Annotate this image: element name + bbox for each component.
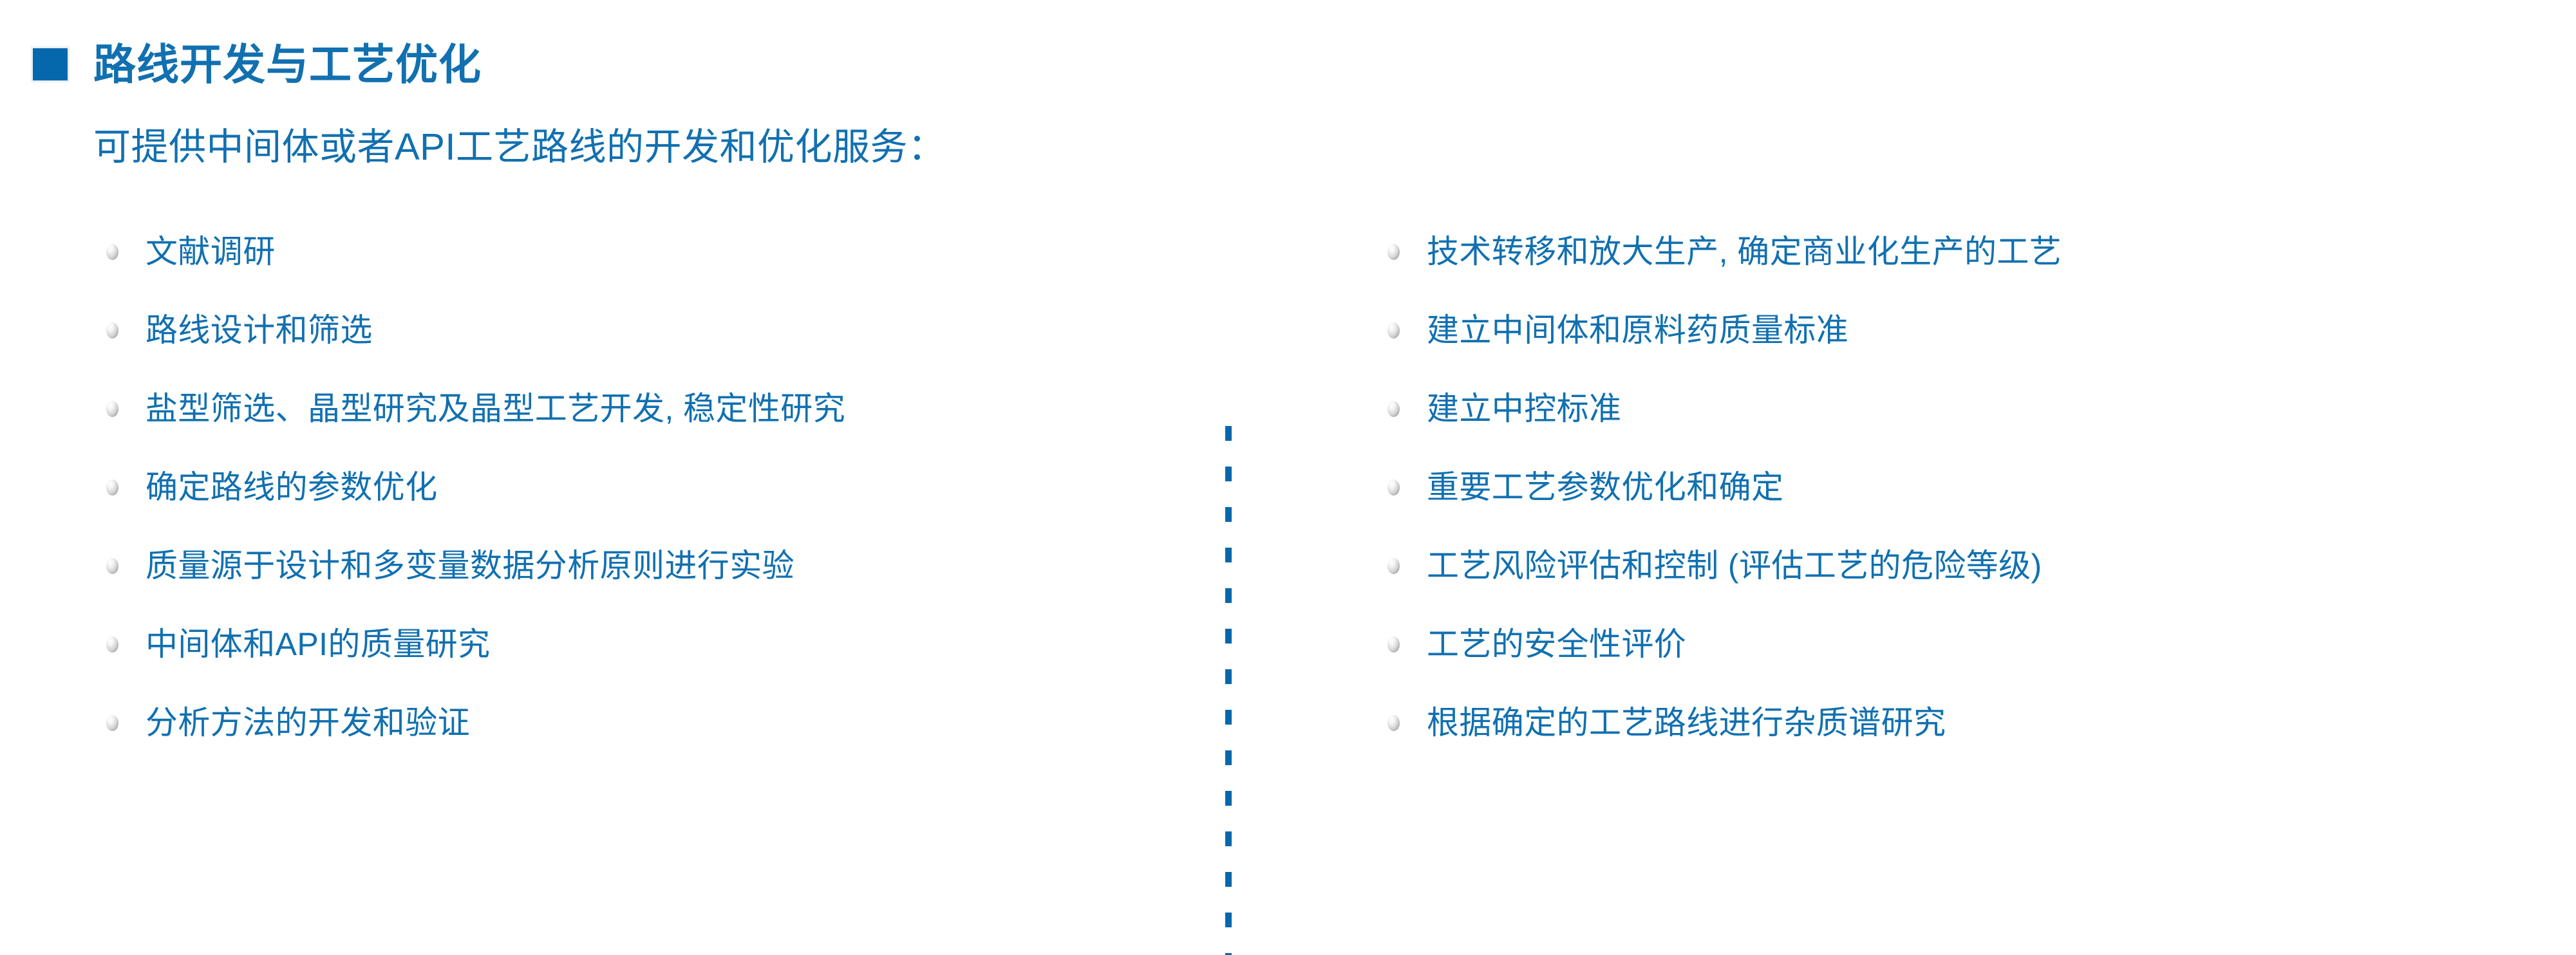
bullet-columns: 文献调研 路线设计和筛选 盐型筛选、晶型研究及晶型工艺开发, 稳定性研究 确定路… (0, 212, 2576, 746)
sphere-bullet-icon (106, 479, 118, 496)
sphere-bullet-icon (1387, 715, 1400, 731)
list-item-label: 确定路线的参数优化 (146, 470, 438, 505)
sphere-bullet-icon (1387, 636, 1400, 653)
list-item-label: 分析方法的开发和验证 (146, 705, 470, 741)
sphere-bullet-icon (1387, 558, 1400, 574)
sphere-bullet-icon (106, 244, 118, 260)
list-item-label: 路线设计和筛选 (146, 313, 373, 348)
list-item: 分析方法的开发和验证 (106, 683, 1201, 762)
list-item-label: 文献调研 (146, 234, 276, 270)
list-item-label: 建立中控标准 (1427, 391, 1621, 427)
sphere-bullet-icon (1387, 479, 1400, 496)
list-item: 盐型筛选、晶型研究及晶型工艺开发, 稳定性研究 (106, 369, 1201, 448)
slide-canvas: 路线开发与工艺优化 可提供中间体或者API工艺路线的开发和优化服务： 文献调研 … (0, 0, 2576, 893)
list-item-label: 工艺风险评估和控制 (评估工艺的危险等级) (1427, 548, 2042, 584)
list-item: 路线设计和筛选 (106, 291, 1201, 369)
sphere-bullet-icon (106, 715, 118, 731)
section-subtitle: 可提供中间体或者API工艺路线的开发和优化服务： (93, 126, 946, 169)
list-item-label: 盐型筛选、晶型研究及晶型工艺开发, 稳定性研究 (146, 391, 845, 427)
sphere-bullet-icon (106, 401, 118, 417)
list-item: 中间体和API的质量研究 (106, 605, 1201, 683)
bullet-column-right: 技术转移和放大生产, 确定商业化生产的工艺 建立中间体和原料药质量标准 建立中控… (1387, 212, 2546, 762)
list-item: 建立中间体和原料药质量标准 (1387, 291, 2546, 369)
bullet-column-left: 文献调研 路线设计和筛选 盐型筛选、晶型研究及晶型工艺开发, 稳定性研究 确定路… (106, 212, 1201, 762)
list-item-label: 工艺的安全性评价 (1427, 627, 1686, 662)
sphere-bullet-icon (106, 558, 118, 574)
list-item: 建立中控标准 (1387, 369, 2546, 448)
list-item-label: 技术转移和放大生产, 确定商业化生产的工艺 (1427, 234, 2062, 270)
column-divider (1225, 426, 1232, 955)
list-item-label: 质量源于设计和多变量数据分析原则进行实验 (146, 548, 794, 584)
sphere-bullet-icon (1387, 401, 1400, 417)
list-item-label: 建立中间体和原料药质量标准 (1427, 313, 1848, 348)
section-heading: 路线开发与工艺优化 (0, 39, 482, 90)
list-item: 工艺风险评估和控制 (评估工艺的危险等级) (1387, 526, 2546, 605)
list-item: 质量源于设计和多变量数据分析原则进行实验 (106, 526, 1201, 605)
list-item-label: 重要工艺参数优化和确定 (1427, 470, 1783, 505)
list-item-label: 中间体和API的质量研究 (146, 627, 490, 662)
sphere-bullet-icon (1387, 244, 1400, 260)
list-item: 文献调研 (106, 212, 1201, 291)
list-item: 确定路线的参数优化 (106, 448, 1201, 526)
sphere-bullet-icon (1387, 322, 1400, 338)
list-item: 技术转移和放大生产, 确定商业化生产的工艺 (1387, 212, 2546, 291)
sphere-bullet-icon (106, 322, 118, 338)
page-title: 路线开发与工艺优化 (93, 43, 482, 86)
sphere-bullet-icon (106, 636, 118, 653)
list-item: 根据确定的工艺路线进行杂质谱研究 (1387, 683, 2546, 762)
square-marker-icon (33, 48, 68, 80)
list-item: 重要工艺参数优化和确定 (1387, 448, 2546, 526)
list-item-label: 根据确定的工艺路线进行杂质谱研究 (1427, 705, 1946, 741)
list-item: 工艺的安全性评价 (1387, 605, 2546, 683)
